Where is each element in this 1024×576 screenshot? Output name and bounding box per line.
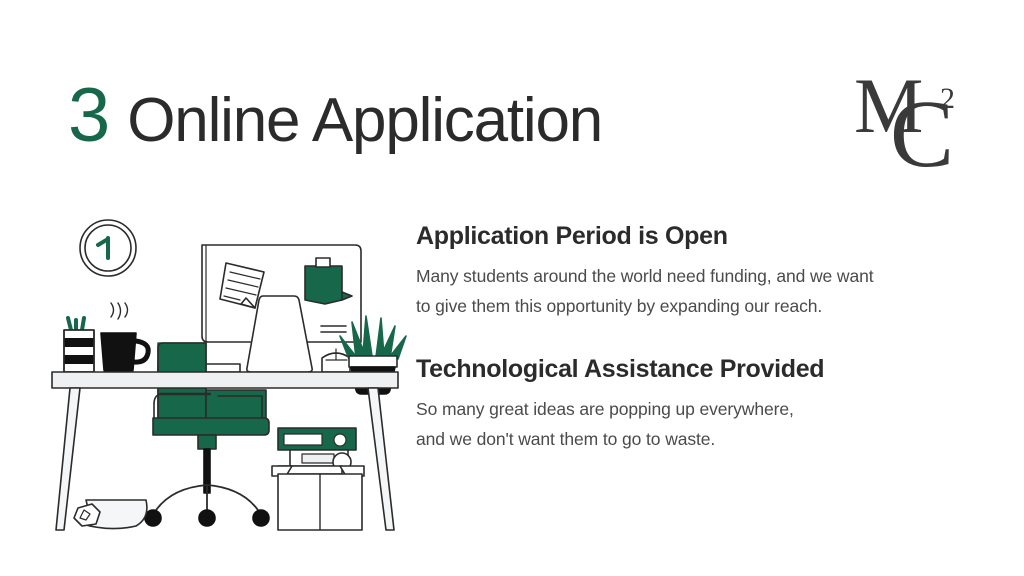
step-number: 3 (68, 78, 109, 154)
mc-squared-logo: M C 2 (852, 70, 972, 175)
desk-leg-left (56, 388, 80, 530)
desk-leg-right (368, 388, 394, 530)
block-body-1-line-1: Many students around the world need fund… (416, 261, 976, 291)
pen-holder (64, 318, 94, 372)
block-body-2-line-1: So many great ideas are popping up every… (416, 394, 976, 424)
home-office-desk-illustration (50, 200, 420, 540)
block-body-1-line-2: to give them this opportunity by expandi… (416, 291, 976, 321)
slide-root: 3 Online Application M C 2 Application P… (0, 0, 1024, 576)
content-block-2: Technological Assistance Provided So man… (416, 355, 976, 454)
logo-superscript-2: 2 (940, 82, 955, 115)
printer-device (278, 428, 356, 471)
cardboard-box (272, 466, 364, 530)
wall-clock (80, 220, 136, 276)
block-body-2-line-2: and we don't want them to go to waste. (416, 424, 976, 454)
block-body-1: Many students around the world need fund… (416, 261, 976, 321)
block-body-2: So many great ideas are popping up every… (416, 394, 976, 454)
desk (52, 372, 398, 388)
coffee-mug (101, 303, 148, 374)
content-block-1: Application Period is Open Many students… (416, 222, 976, 321)
monitor-document (220, 263, 264, 308)
crumpled-paper (74, 504, 100, 526)
title-text: Online Application (127, 90, 602, 152)
block-heading-2: Technological Assistance Provided (416, 355, 976, 384)
content-column: Application Period is Open Many students… (416, 222, 976, 454)
block-heading-1: Application Period is Open (416, 222, 976, 251)
page-title: 3 Online Application (68, 78, 602, 154)
